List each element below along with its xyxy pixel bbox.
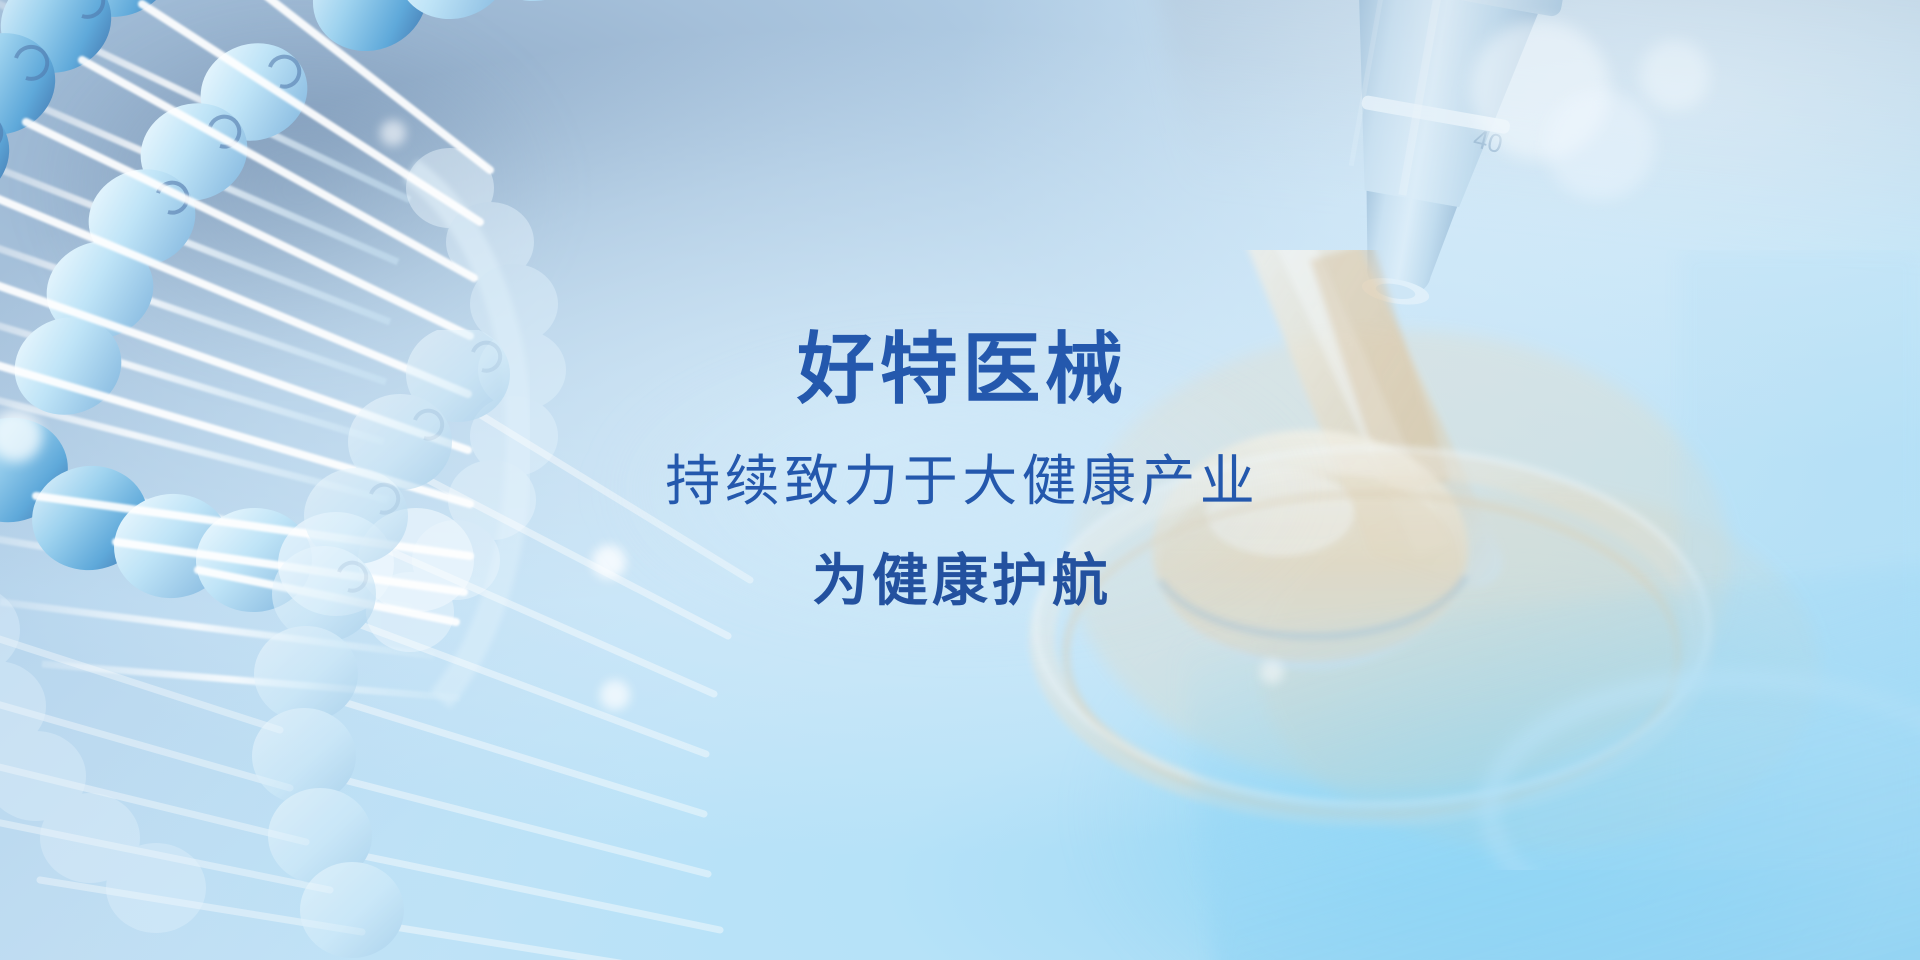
headline-block: 好特医械 持续致力于大健康产业 为健康护航 [0, 330, 1920, 609]
banner-subtitle: 持续致力于大健康产业 [0, 454, 1920, 509]
banner-title: 好特医械 [0, 330, 1920, 408]
bokeh-light [380, 120, 406, 146]
bokeh-light [1545, 90, 1655, 200]
hero-banner: 40 [0, 0, 1920, 960]
banner-tagline: 为健康护航 [0, 553, 1920, 609]
bokeh-light [1640, 40, 1710, 110]
